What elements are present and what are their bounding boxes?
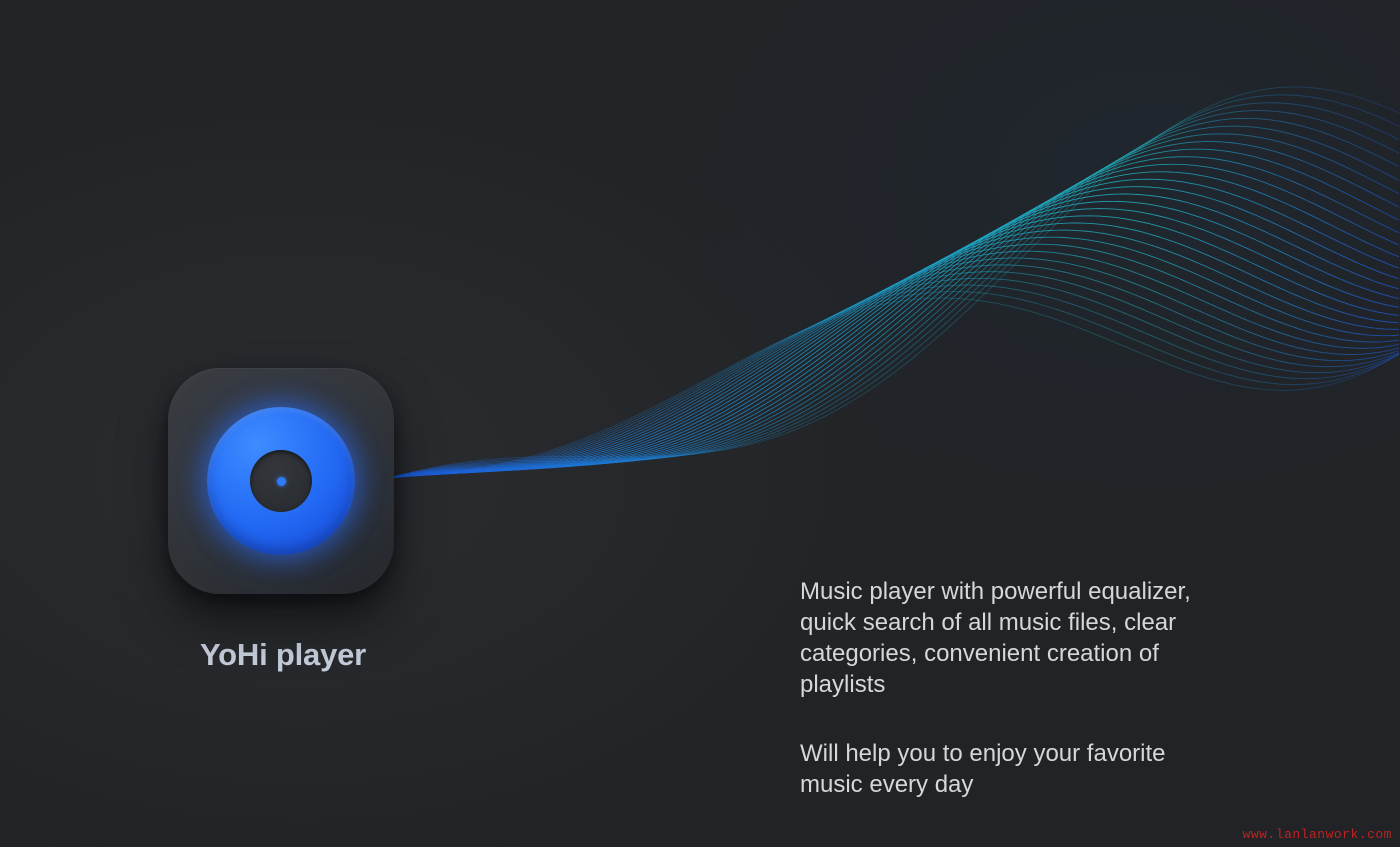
app-title: YoHi player: [168, 638, 398, 672]
promo-canvas: YoHi player Music player with powerful e…: [0, 0, 1400, 847]
description-paragraph: Will help you to enjoy your favorite mus…: [800, 738, 1230, 800]
disc-center-dot: [277, 477, 286, 486]
description-paragraph: Music player with powerful equalizer, qu…: [800, 576, 1230, 700]
vinyl-record-icon: [207, 407, 355, 555]
app-identity-block: YoHi player: [168, 368, 398, 672]
site-watermark: www.lanlanwork.com: [1243, 827, 1392, 842]
disc-hub: [250, 450, 312, 512]
app-description: Music player with powerful equalizer, qu…: [800, 576, 1230, 800]
app-icon-tile[interactable]: [168, 368, 394, 594]
